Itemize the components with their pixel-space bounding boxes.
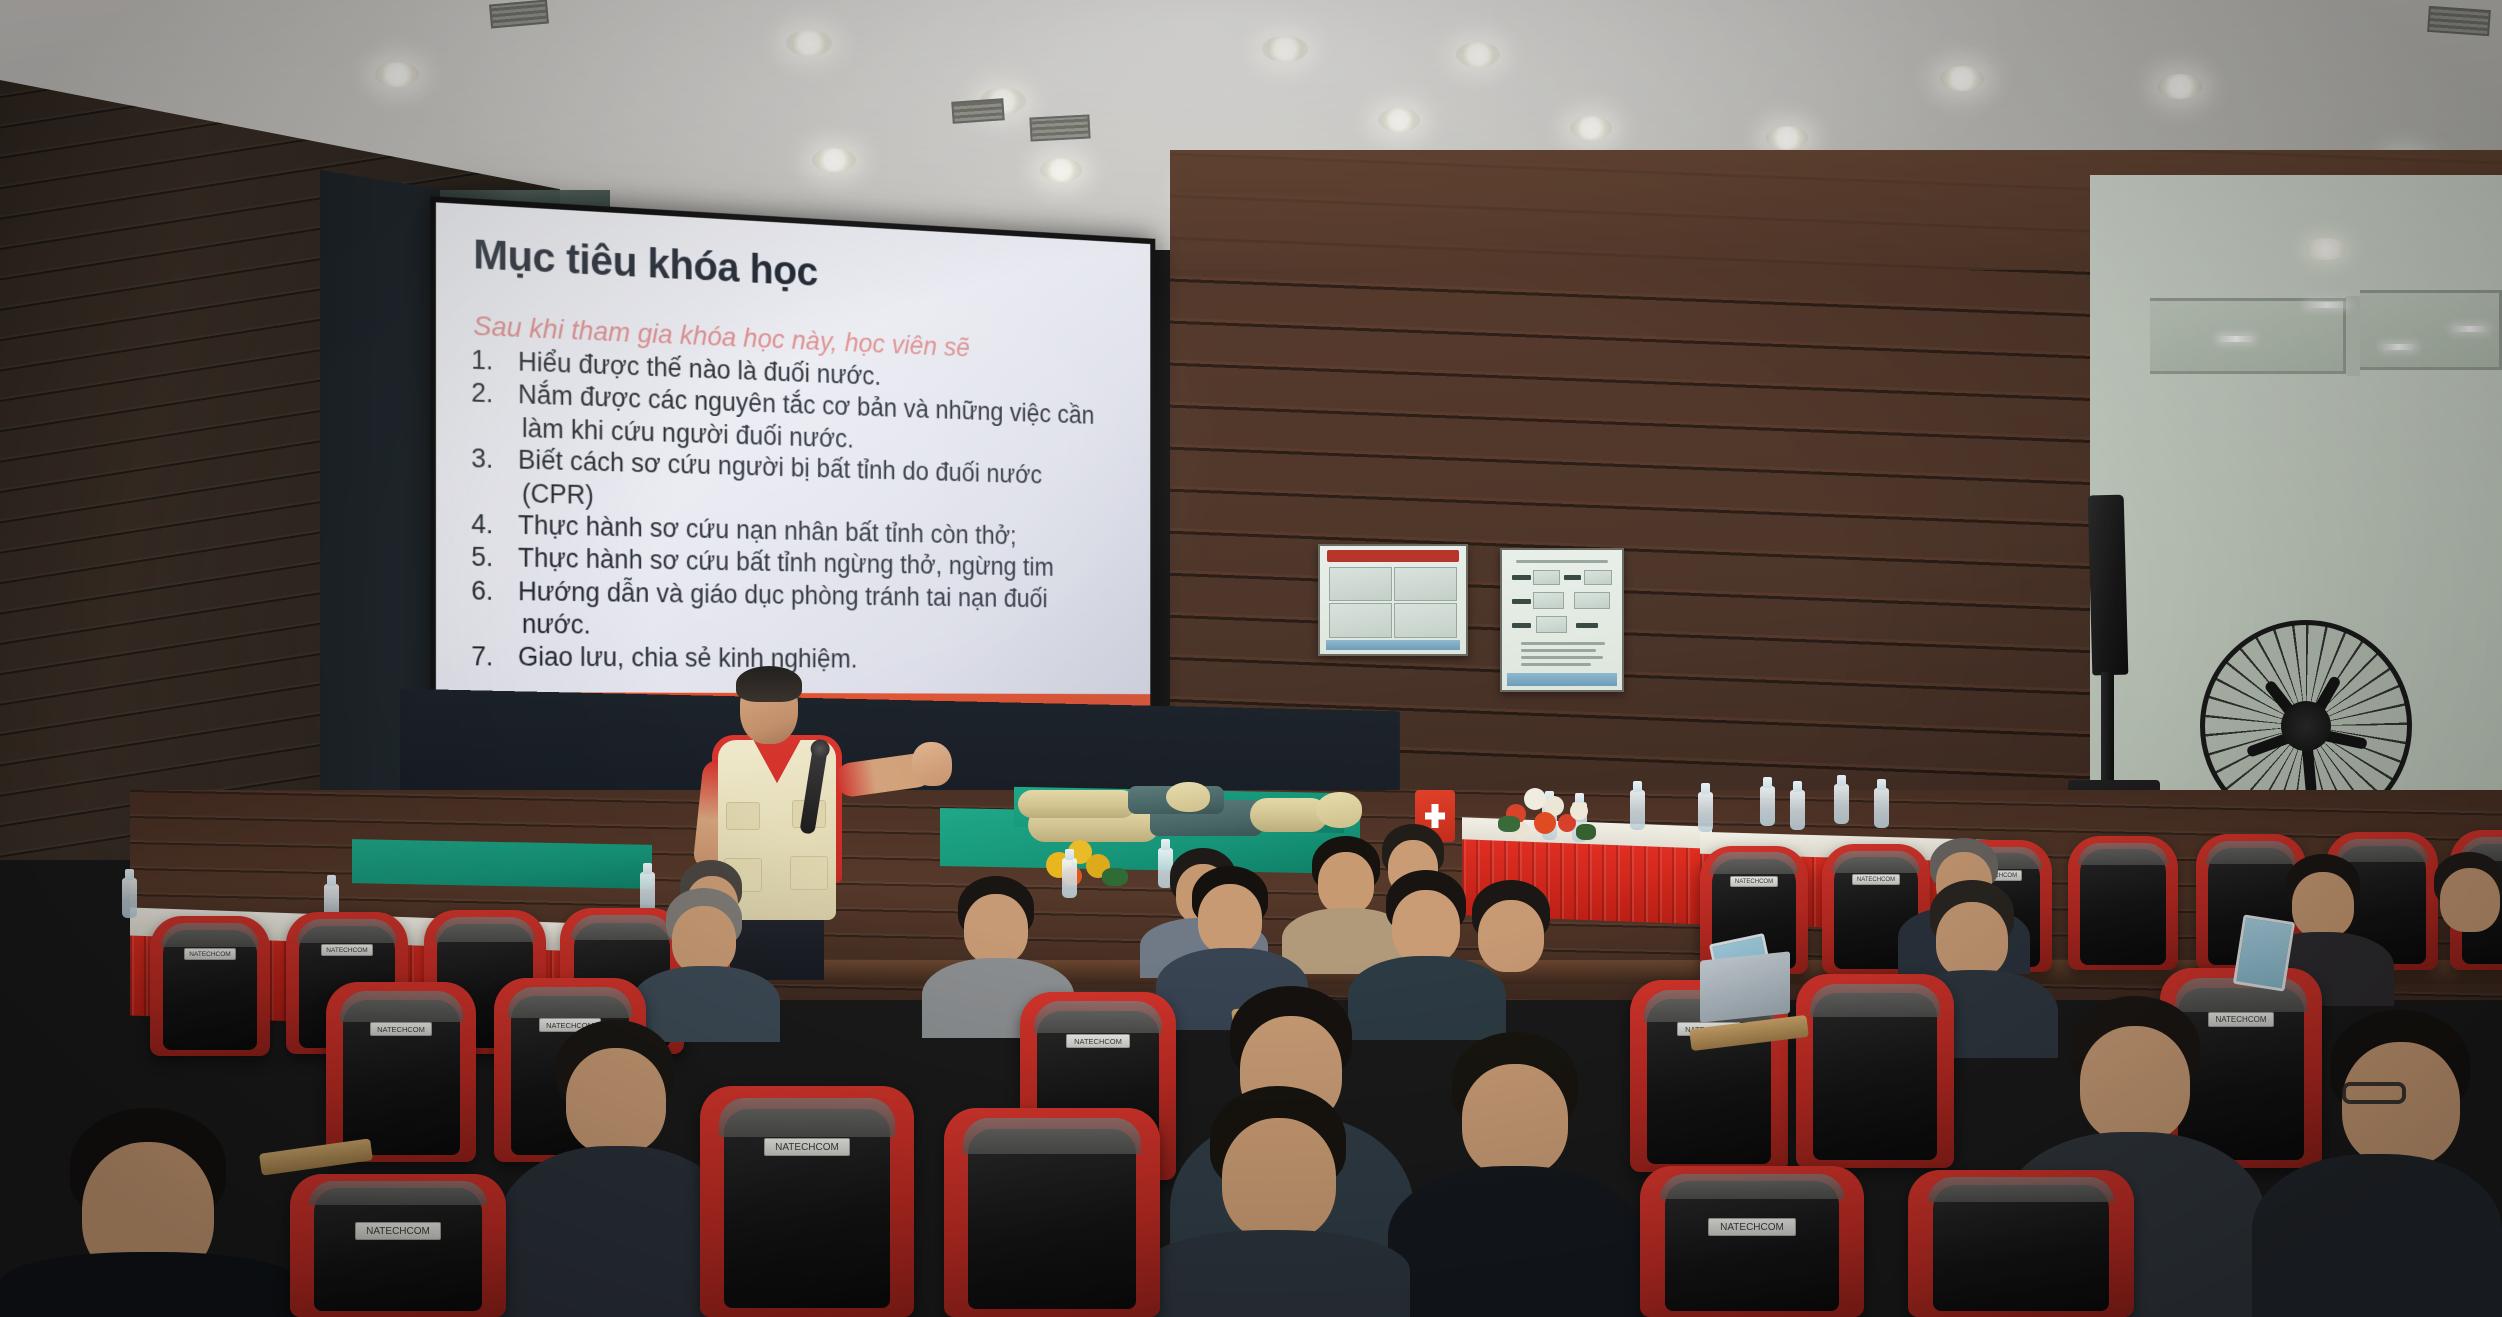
water-bottle xyxy=(1760,786,1775,826)
list-item-number: 6. xyxy=(467,574,518,607)
seat-headrest-strip xyxy=(309,1181,486,1205)
pa-speaker xyxy=(2088,495,2129,676)
foliage xyxy=(1498,816,1520,832)
seat-cushion xyxy=(2080,849,2166,964)
vest-pocket xyxy=(790,856,828,890)
fluorescent-tube xyxy=(2218,336,2254,342)
head xyxy=(2342,1042,2460,1166)
head xyxy=(566,1048,666,1154)
seat-headrest-strip xyxy=(1034,1001,1162,1033)
presenter-hair xyxy=(736,666,802,702)
poster-photo-cell xyxy=(1533,592,1564,609)
seat-number-plate: NATECHCOM xyxy=(2208,1012,2274,1027)
ceiling-downlight xyxy=(1940,66,1984,91)
water-bottle xyxy=(1790,790,1805,830)
tablet-device xyxy=(2233,914,2295,991)
poster-photo-cell xyxy=(1533,570,1559,585)
seat-number-plate: NATECHCOM xyxy=(1066,1034,1130,1048)
head xyxy=(1222,1118,1336,1240)
seat[interactable]: NATECHCOM xyxy=(290,1174,506,1317)
seat-headrest-strip xyxy=(1928,1177,2113,1202)
flower xyxy=(1570,802,1588,820)
seat-cushion xyxy=(968,1129,1136,1309)
fluorescent-tube xyxy=(2452,326,2488,332)
seat[interactable]: NATECHCOM xyxy=(150,916,270,1056)
hvac-vent xyxy=(1029,114,1090,141)
list-item-number: 4. xyxy=(467,508,518,541)
poster-photo-cell xyxy=(1584,570,1613,585)
flower xyxy=(1534,812,1556,834)
slide-objective-list: 1. Hiểu được thế nào là đuối nước. 2. Nắ… xyxy=(467,344,1127,677)
seat-headrest-strip xyxy=(161,923,259,947)
seat-headrest-strip xyxy=(297,919,397,943)
auditorium-photo: Mục tiêu khóa học Sau khi tham gia khóa … xyxy=(0,0,2502,1317)
seat-headrest-strip xyxy=(2336,839,2428,862)
list-item: 7. Giao lưu, chia sẻ kinh nghiệm. xyxy=(467,640,1127,676)
list-item-number: 1. xyxy=(467,344,518,378)
seat-number-plate: NATECHCOM xyxy=(1730,876,1778,887)
seat-headrest-strip xyxy=(1832,851,1921,873)
seat-headrest-strip xyxy=(1660,1174,1844,1200)
training-mat xyxy=(352,839,652,889)
seat-headrest-strip xyxy=(719,1098,894,1137)
eyeglasses-icon xyxy=(2342,1082,2406,1104)
shoulders xyxy=(1348,956,1506,1040)
poster-photo-cell xyxy=(1574,592,1610,609)
fluorescent-tube xyxy=(2306,302,2348,308)
poster-step-cell xyxy=(1329,603,1392,638)
poster-photo-cell xyxy=(1536,616,1567,633)
seat[interactable] xyxy=(1908,1170,2134,1317)
foliage xyxy=(1576,824,1596,840)
seat[interactable] xyxy=(1796,974,1954,1168)
seat-headrest-strip xyxy=(435,917,535,941)
seat-writing-tablet[interactable] xyxy=(259,1138,373,1175)
head xyxy=(1478,900,1544,972)
flower xyxy=(1524,788,1546,810)
hvac-vent xyxy=(2427,6,2491,36)
seat-number-plate: NATECHCOM xyxy=(1852,874,1900,885)
shoulders xyxy=(0,1252,300,1317)
poster-step-cell xyxy=(1394,567,1457,602)
seat[interactable]: NATECHCOM xyxy=(700,1086,914,1317)
seat[interactable]: NATECHCOM xyxy=(326,982,476,1162)
seat-headrest-strip xyxy=(340,991,463,1022)
seat-headrest-strip xyxy=(963,1118,1140,1154)
victim-assessment-poster xyxy=(1500,548,1624,692)
arrow-icon xyxy=(1576,623,1598,628)
mannequin-head xyxy=(1166,782,1210,812)
head xyxy=(964,894,1028,964)
head xyxy=(2292,872,2354,938)
list-item-number: 2. xyxy=(467,377,518,411)
head xyxy=(1936,902,2008,978)
arrow-icon xyxy=(1564,575,1581,580)
water-bottle xyxy=(640,872,655,912)
ceiling-downlight xyxy=(1570,116,1612,140)
head xyxy=(1462,1064,1568,1176)
water-bottle xyxy=(1698,792,1713,832)
seat-headrest-strip xyxy=(508,987,633,1018)
seat-cushion xyxy=(1813,993,1936,1160)
seat[interactable] xyxy=(2068,836,2178,970)
shoulders xyxy=(1140,1230,1410,1317)
seat-number-plate: NATECHCOM xyxy=(321,944,373,956)
seat-number-plate: NATECHCOM xyxy=(355,1222,441,1240)
recovery-position-poster xyxy=(1318,544,1468,656)
poster-step-cell xyxy=(1394,603,1457,638)
hvac-vent xyxy=(489,0,549,28)
ceiling-downlight xyxy=(812,148,856,172)
water-bottle xyxy=(1834,784,1849,824)
seat-headrest-strip xyxy=(1810,984,1940,1017)
water-bottle xyxy=(122,878,137,918)
seat[interactable]: NATECHCOM xyxy=(1640,1166,1864,1317)
list-item-number: 5. xyxy=(467,541,518,574)
window-mullion xyxy=(2346,296,2360,376)
water-bottle xyxy=(1630,790,1645,830)
list-item-number: 7. xyxy=(467,640,518,673)
fluorescent-tube xyxy=(2382,344,2416,350)
presenter-right-hand xyxy=(912,742,952,786)
poster-footer-band xyxy=(1326,640,1460,650)
poster-step-cell xyxy=(1329,567,1392,602)
ceiling-downlight xyxy=(1040,158,1082,182)
water-bottle xyxy=(1062,858,1077,898)
seat-number-plate: NATECHCOM xyxy=(370,1022,432,1036)
arrow-icon xyxy=(1512,623,1531,628)
head xyxy=(1392,890,1460,964)
seat[interactable] xyxy=(944,1108,1160,1317)
water-bottle xyxy=(1874,788,1889,828)
shoulders xyxy=(632,966,780,1042)
head xyxy=(1198,884,1262,954)
fan-hub xyxy=(2281,701,2331,751)
list-item-number: 3. xyxy=(467,442,518,476)
ceiling-downlight xyxy=(1456,42,1500,67)
foliage xyxy=(1102,868,1128,886)
poster-text-line xyxy=(1521,656,1603,659)
poster-heading-line xyxy=(1516,560,1607,563)
shoulders xyxy=(1388,1166,1640,1317)
seat-number-plate: NATECHCOM xyxy=(1708,1218,1796,1236)
ceiling-downlight xyxy=(2158,74,2202,99)
slide-title: Mục tiêu khóa học xyxy=(473,230,818,296)
shoulders xyxy=(2252,1154,2502,1317)
seat-cushion xyxy=(314,1188,482,1311)
arrow-icon xyxy=(1512,599,1531,604)
poster-title-band xyxy=(1327,550,1458,562)
ceiling-downlight xyxy=(1378,108,1420,132)
seat-number-plate: NATECHCOM xyxy=(184,948,236,960)
seat-cushion xyxy=(1933,1185,2109,1311)
head xyxy=(1318,852,1374,914)
head xyxy=(2080,1026,2190,1142)
ceiling-downlight xyxy=(786,30,832,56)
mannequin-legs xyxy=(1018,790,1136,818)
poster-footer-band xyxy=(1507,673,1617,686)
ceiling-downlight xyxy=(2306,238,2346,260)
head xyxy=(672,906,736,974)
mannequin-head xyxy=(1316,792,1362,828)
head xyxy=(2440,868,2500,932)
seat-headrest-strip xyxy=(571,915,673,940)
seat-headrest-strip xyxy=(1710,852,1799,874)
sunflower-arrangement xyxy=(1044,838,1130,894)
poster-text-line xyxy=(1521,649,1595,652)
seat-headrest-strip xyxy=(2078,843,2168,866)
arrow-icon xyxy=(1512,575,1531,580)
vest-pocket xyxy=(726,802,760,830)
projection-screen: Mục tiêu khóa học Sau khi tham gia khóa … xyxy=(436,202,1150,750)
flower-arrangement xyxy=(1498,782,1594,848)
hvac-vent xyxy=(951,98,1004,124)
seat-headrest-strip xyxy=(2206,841,2296,864)
poster-text-line xyxy=(1521,663,1591,666)
seat-cushion xyxy=(1665,1181,1840,1311)
ceiling-downlight xyxy=(1766,126,1808,150)
ceiling-downlight xyxy=(1262,36,1308,62)
seat-number-plate: NATECHCOM xyxy=(764,1138,850,1156)
ceiling-downlight xyxy=(375,62,419,87)
list-item-text: Giao lưu, chia sẻ kinh nghiệm. xyxy=(518,640,1127,675)
laptop-device xyxy=(1700,951,1790,1022)
poster-text-line xyxy=(1521,642,1605,645)
